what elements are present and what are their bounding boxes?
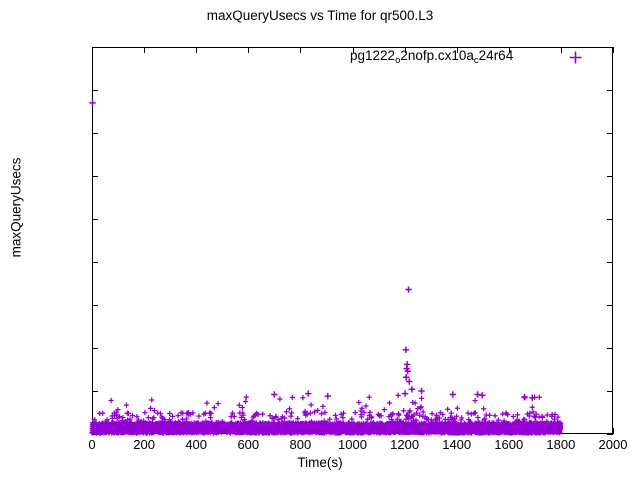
x-tick-mark — [613, 428, 614, 434]
legend-text-prefix: pg1222 — [350, 48, 395, 63]
x-tick-mark — [561, 428, 562, 434]
y-tick-mark — [92, 90, 98, 91]
y-tick-mark — [92, 434, 98, 435]
x-tick-mark — [248, 428, 249, 434]
x-axis-label: Time(s) — [0, 455, 640, 470]
y-tick-mark — [92, 262, 98, 263]
x-tick-mark — [92, 47, 93, 53]
x-tick-mark — [196, 428, 197, 434]
y-tick-mark — [607, 391, 613, 392]
y-tick-mark — [607, 348, 613, 349]
x-tick-mark — [561, 47, 562, 53]
legend-entry-label: pg1222o2nofp.cx10ac24r64 — [350, 48, 513, 63]
y-tick-mark — [92, 391, 98, 392]
x-tick-mark — [457, 428, 458, 434]
x-tick-mark — [144, 47, 145, 53]
y-tick-mark — [92, 133, 98, 134]
y-tick-mark — [607, 133, 613, 134]
legend-text-sub1: o — [395, 55, 400, 66]
legend-text-sub2: c — [474, 55, 479, 66]
gnuplot-scatter-chart: maxQueryUsecs vs Time for qr500.L3 maxQu… — [0, 0, 640, 480]
plot-area — [92, 47, 613, 434]
chart-title: maxQueryUsecs vs Time for qr500.L3 — [0, 8, 640, 23]
y-tick-mark — [607, 305, 613, 306]
x-tick-mark — [353, 428, 354, 434]
y-tick-mark — [92, 176, 98, 177]
legend-text-suffix: 24r64 — [479, 48, 514, 63]
legend-marker-icon — [569, 51, 582, 64]
y-tick-mark — [92, 219, 98, 220]
x-tick-mark — [248, 47, 249, 53]
x-tick-mark — [196, 47, 197, 53]
y-tick-mark — [607, 434, 613, 435]
y-axis-label: maxQueryUsecs — [9, 138, 24, 278]
x-tick-mark — [509, 428, 510, 434]
y-tick-mark — [607, 90, 613, 91]
x-tick-mark — [405, 428, 406, 434]
y-tick-mark — [92, 348, 98, 349]
x-tick-mark — [300, 428, 301, 434]
y-tick-mark — [92, 305, 98, 306]
y-tick-mark — [607, 176, 613, 177]
x-tick-mark — [144, 428, 145, 434]
x-tick-mark — [613, 47, 614, 53]
x-tick-mark — [300, 47, 301, 53]
y-tick-mark — [607, 262, 613, 263]
x-tick-label: 2000 — [573, 437, 640, 452]
y-tick-mark — [607, 219, 613, 220]
x-tick-mark — [92, 428, 93, 434]
legend-text-mid: 2nofp.cx10a — [400, 48, 474, 63]
